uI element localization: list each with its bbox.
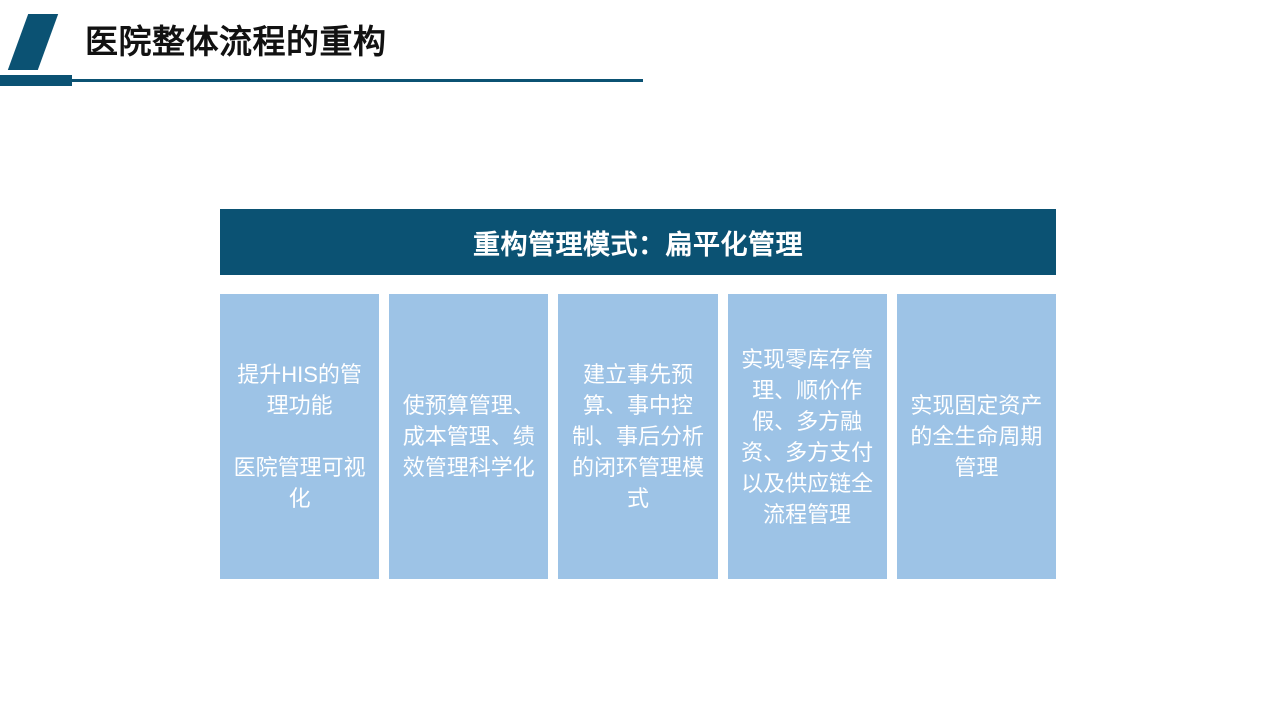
- diagram-card-2[interactable]: 使预算管理、成本管理、绩效管理科学化: [389, 294, 548, 579]
- management-model-diagram: 重构管理模式：扁平化管理 提升HIS的管理功能 医院管理可视化 使预算管理、成本…: [220, 209, 1056, 579]
- header-divider-line: [72, 79, 643, 82]
- diagram-card-row: 提升HIS的管理功能 医院管理可视化 使预算管理、成本管理、绩效管理科学化 建立…: [220, 294, 1056, 579]
- header-underbar-decoration: [0, 75, 72, 86]
- diagram-card-3-text: 建立事先预算、事中控制、事后分析的闭环管理模式: [566, 359, 709, 514]
- diagram-banner-label: 重构管理模式：扁平化管理: [473, 223, 803, 262]
- page-title: 医院整体流程的重构: [85, 20, 387, 64]
- slide-header: 医院整体流程的重构: [0, 0, 1280, 95]
- diagram-banner: 重构管理模式：扁平化管理: [220, 209, 1056, 275]
- diagram-card-5-text: 实现固定资产的全生命周期管理: [905, 390, 1048, 483]
- diagram-card-3[interactable]: 建立事先预算、事中控制、事后分析的闭环管理模式: [558, 294, 717, 579]
- diagram-card-4[interactable]: 实现零库存管理、顺价作假、多方融资、多方支付以及供应链全流程管理: [728, 294, 887, 579]
- diagram-card-1-text: 提升HIS的管理功能 医院管理可视化: [228, 359, 371, 514]
- slash-decoration-icon: [8, 14, 58, 70]
- diagram-card-2-text: 使预算管理、成本管理、绩效管理科学化: [397, 390, 540, 483]
- diagram-card-5[interactable]: 实现固定资产的全生命周期管理: [897, 294, 1056, 579]
- diagram-card-1[interactable]: 提升HIS的管理功能 医院管理可视化: [220, 294, 379, 579]
- diagram-card-4-text: 实现零库存管理、顺价作假、多方融资、多方支付以及供应链全流程管理: [736, 344, 879, 530]
